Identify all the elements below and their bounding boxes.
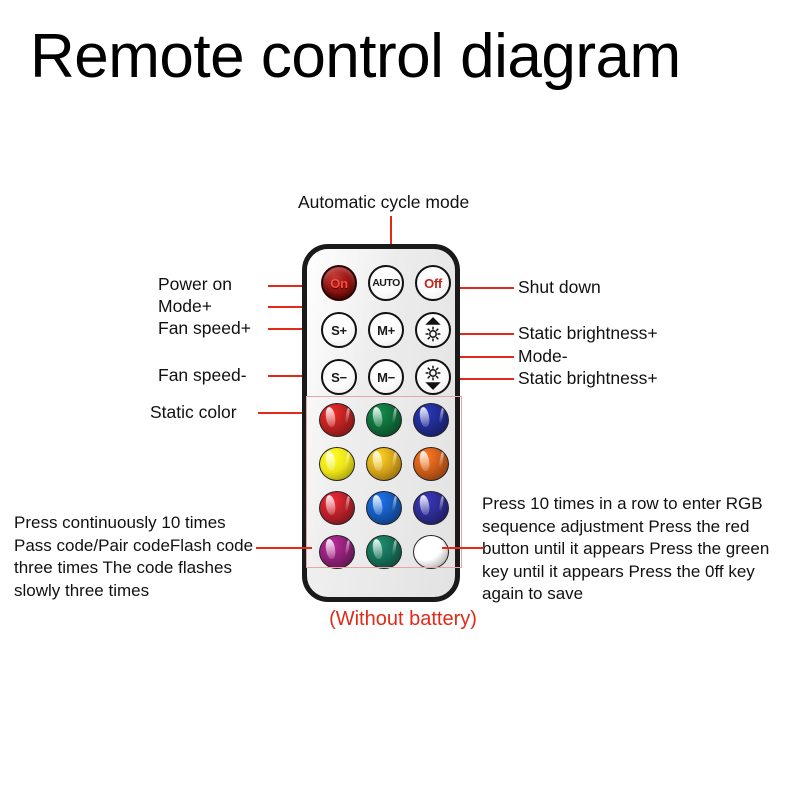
color-button-teal[interactable] [366,535,402,569]
color-button-blue-2[interactable] [366,491,402,525]
button-speed-up[interactable]: S+ [321,312,357,348]
color-button-red[interactable] [319,403,355,437]
callout-mode-minus: Mode- [518,346,568,367]
callout-static-color: Static color [150,402,237,423]
note-rgb-sequence-line-5: again to save [482,583,792,606]
sun-up-icon [418,315,448,345]
callout-power-on: Power on [158,274,232,295]
note-pass-code: Press continuously 10 times Pass code/Pa… [14,512,304,602]
color-button-orange[interactable] [413,447,449,481]
note-rgb-sequence-line-3: button until it appears Press the green [482,538,792,561]
note-pass-code-line-4: slowly three times [14,580,304,603]
note-rgb-sequence-line-2: sequence adjustment Press the red [482,516,792,539]
note-pass-code-line-1: Press continuously 10 times [14,512,304,535]
note-pass-code-line-2: Pass code/Pair codeFlash code [14,535,304,558]
note-pass-code-line-3: three times The code flashes [14,557,304,580]
color-button-blue[interactable] [413,403,449,437]
sun-down-icon [418,362,448,392]
button-brightness-down[interactable] [415,359,451,395]
button-on[interactable]: On [321,265,357,301]
page-title: Remote control diagram [30,22,770,92]
color-button-yellow[interactable] [319,447,355,481]
callout-fan-speed-minus: Fan speed- [158,365,247,386]
color-button-white[interactable] [413,535,449,569]
color-button-red-2[interactable] [319,491,355,525]
button-mode-down[interactable]: M− [368,359,404,395]
callout-automatic-cycle-mode: Automatic cycle mode [298,192,469,213]
callout-mode-plus: Mode+ [158,296,212,317]
leader-shut-down [452,287,514,289]
callout-shut-down: Shut down [518,277,601,298]
leader-rgb-sequence [442,547,484,549]
color-button-indigo[interactable] [413,491,449,525]
button-speed-down[interactable]: S− [321,359,357,395]
button-off[interactable]: Off [415,265,451,301]
color-button-purple[interactable] [319,535,355,569]
callout-static-brightness-up-2: Static brightness+ [518,368,658,389]
color-button-pad [313,401,459,589]
callout-static-brightness-up: Static brightness+ [518,323,658,344]
note-rgb-sequence-line-1: Press 10 times in a row to enter RGB [482,493,792,516]
button-auto[interactable]: AUTO [368,265,404,301]
remote-control-body: On AUTO Off S+ M+ [302,244,460,602]
color-button-green[interactable] [366,403,402,437]
button-mode-up[interactable]: M+ [368,312,404,348]
without-battery-caption: (Without battery) [303,608,503,631]
color-button-amber[interactable] [366,447,402,481]
diagram-canvas: Remote control diagram Automatic cycle m… [0,0,800,800]
button-brightness-up[interactable] [415,312,451,348]
leader-pass-code [256,547,312,549]
note-rgb-sequence: Press 10 times in a row to enter RGB seq… [482,493,792,606]
note-rgb-sequence-line-4: key until it appears Press the 0ff key [482,561,792,584]
callout-fan-speed-plus: Fan speed+ [158,318,251,339]
